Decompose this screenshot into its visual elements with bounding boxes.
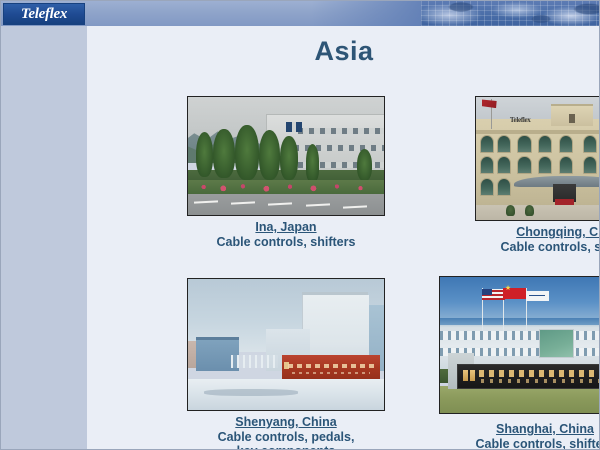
fence — [231, 355, 278, 368]
photo-ina-japan — [187, 96, 385, 216]
sign-english-text — [292, 372, 370, 374]
arched-window — [559, 135, 573, 153]
window-row — [440, 331, 600, 339]
planter-bush — [525, 205, 534, 216]
tree — [306, 144, 320, 181]
photo-shanghai-china — [439, 276, 600, 414]
arched-window — [497, 135, 511, 153]
entrance-sign — [457, 364, 600, 389]
sign-chinese-text — [288, 364, 374, 368]
arched-window — [497, 156, 511, 174]
teleflex-logo: Teleflex — [3, 3, 85, 25]
slide-header-band: Teleflex — [1, 1, 600, 26]
arched-window — [517, 135, 531, 153]
united-states-flag — [482, 289, 505, 300]
tree — [235, 125, 259, 179]
photo-chongqing-china: Teleflex — [475, 96, 600, 221]
arched-window — [480, 135, 494, 153]
arched-window — [517, 156, 531, 174]
arched-window — [559, 156, 573, 174]
sign-chinese-text — [479, 370, 600, 377]
china-flag — [503, 288, 526, 299]
tree — [259, 130, 281, 180]
caption-description: Cable controls, shifters — [465, 240, 600, 255]
caption-ina-japan: Ina, Japan Cable controls, shifters — [187, 220, 385, 249]
arched-window — [497, 178, 511, 196]
arched-window — [538, 156, 552, 174]
arched-window — [480, 178, 494, 196]
building-sign-text: Teleflex — [510, 115, 578, 124]
header-gradient-fade — [311, 1, 421, 26]
tree — [196, 132, 214, 177]
planter-bush — [506, 205, 515, 216]
building-logo-mark — [286, 122, 302, 133]
teleflex-flag — [526, 291, 549, 302]
photo-shenyang-china — [187, 278, 385, 411]
snow-tracks — [204, 389, 298, 396]
caption-place: Shenyang, China — [185, 415, 387, 430]
caption-description-line-1: Cable controls, pedals, — [185, 430, 387, 445]
arched-window — [480, 156, 494, 174]
caption-place: Shanghai, China — [439, 422, 600, 437]
page-title: Asia — [87, 36, 600, 67]
tree — [357, 149, 373, 181]
caption-description-line-2: key components — [185, 444, 387, 450]
flower-bed — [188, 180, 384, 194]
forecourt — [476, 205, 600, 220]
caption-description: Cable controls, shifters — [187, 235, 385, 250]
caption-chongqing-china: Chongqing, China Cable controls, shifter… — [465, 225, 600, 254]
photo-shenyang-china-scene — [188, 279, 384, 410]
window-row — [298, 128, 385, 134]
world-map-icon — [421, 1, 600, 26]
teleflex-logo-text: Teleflex — [21, 7, 67, 22]
photo-chongqing-china-scene: Teleflex — [476, 97, 600, 220]
photo-shanghai-china-scene — [440, 277, 600, 413]
caption-description: Cable controls, shifters — [439, 437, 600, 450]
slide-content: Asia — [87, 26, 600, 450]
tree — [213, 129, 235, 179]
sign-english-text — [481, 379, 600, 383]
presentation-slide: Teleflex Asia — [0, 0, 600, 450]
caption-shenyang-china: Shenyang, China Cable controls, pedals, … — [185, 415, 387, 450]
sky — [440, 277, 600, 322]
arched-window — [538, 135, 552, 153]
company-logo-mark — [463, 370, 475, 381]
glass-curtain-wall — [539, 329, 575, 358]
sidebar-band — [1, 26, 87, 450]
cornice — [476, 130, 600, 134]
lawn — [440, 386, 600, 413]
tree — [280, 136, 298, 180]
arched-window — [583, 156, 597, 174]
caption-shanghai-china: Shanghai, China Cable controls, shifters — [439, 422, 600, 450]
caption-place: Chongqing, China — [465, 225, 600, 240]
building-roof-band — [440, 318, 600, 325]
arched-window — [583, 135, 597, 153]
caption-place: Ina, Japan — [187, 220, 385, 235]
photo-ina-japan-scene — [188, 97, 384, 215]
